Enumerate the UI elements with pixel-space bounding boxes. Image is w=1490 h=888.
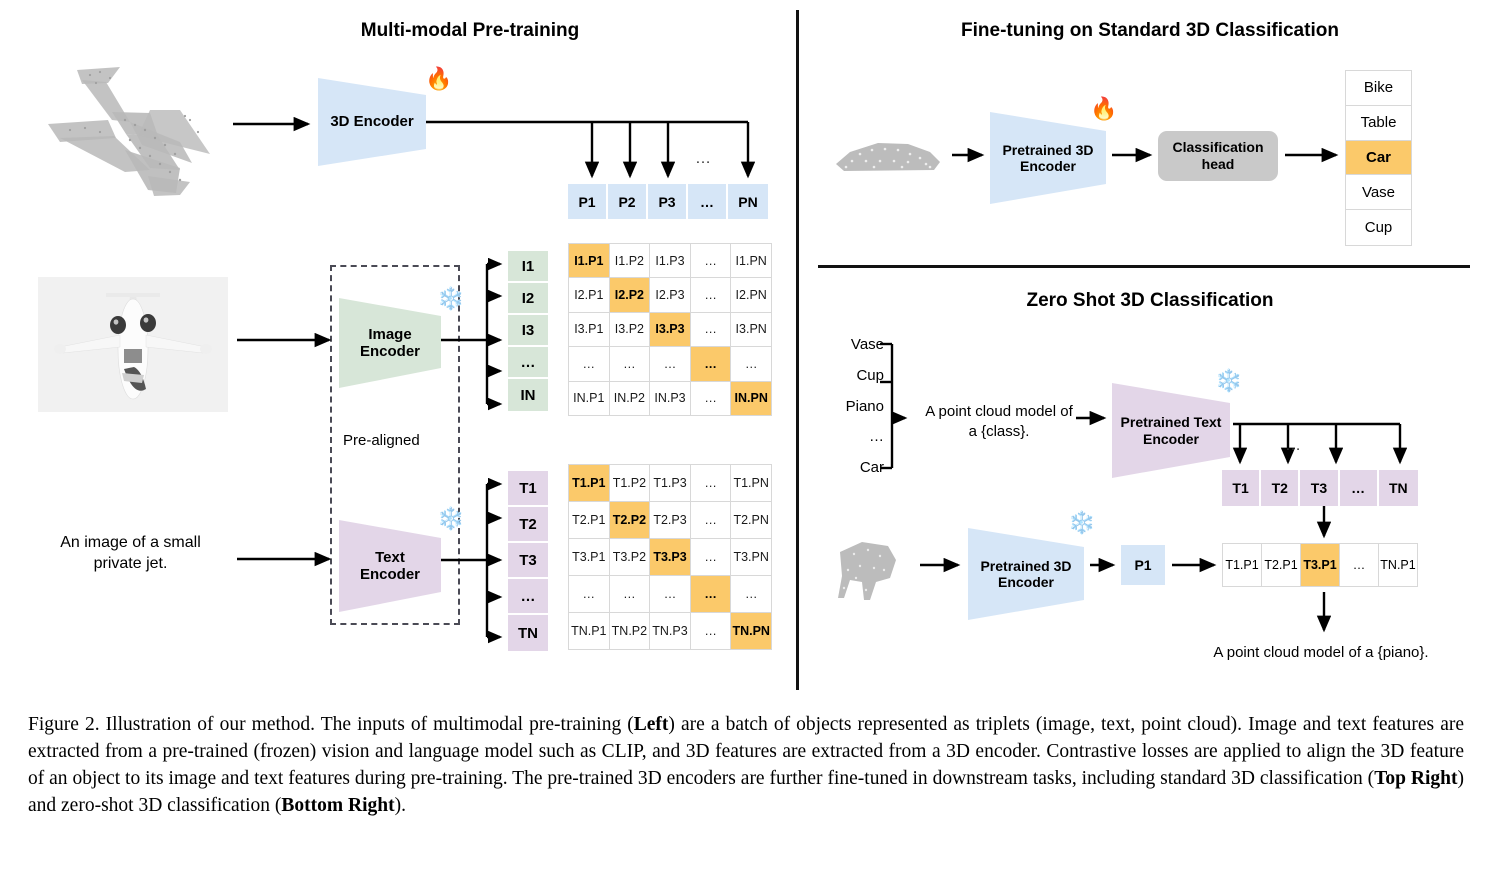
zeroshot-t-token-4: … [1340,470,1379,506]
image-matrix-cell-0-1: I1.P2 [610,244,650,277]
image-encoder-label: Image Encoder [360,326,420,361]
pretrained-text-encoder-label: Pretrained Text Encoder [1121,414,1222,446]
airplane-point-cloud [30,50,245,210]
text-matrix-cell-1-1: T2.P2 [610,502,650,538]
i-token-4: … [508,347,548,379]
t-token-1: T1 [508,471,548,507]
p-token-1: P1 [568,184,608,219]
class-item-car[interactable]: Car [1346,141,1411,176]
zeroshot-t-token-5: TN [1379,470,1418,506]
image-matrix-cell-3-2: … [650,347,690,380]
text-encoder[interactable]: Text Encoder [339,520,441,612]
score-cell-5: TN.P1 [1379,544,1417,586]
image-matrix-cell-1-2: I2.P3 [650,278,690,311]
pretrained-text-encoder[interactable]: Pretrained Text Encoder [1112,383,1230,478]
zeroshot-class-5: Car [860,459,884,476]
text-input-line-1: An image of a small [18,533,243,554]
figure-canvas: Multi-modal Pre-training Fine-tuning on … [0,0,1490,700]
pretrained-3d-encoder-label: Pretrained 3D Encoder [1002,142,1093,174]
t-token-3: T3 [508,543,548,579]
image-matrix-cell-0-0: I1.P1 [569,244,609,277]
text-matrix-cell-1-3: … [691,502,731,538]
prompt-template: A point cloud model of a {class}. [908,402,1090,441]
text-matrix-cell-1-2: T2.P3 [650,502,690,538]
text-matrix-cell-3-0: … [569,576,609,612]
zeroshot-t-token-2: T2 [1261,470,1300,506]
class-item-vase[interactable]: Vase [1346,175,1411,210]
i-token-column: I1I2I3…IN [508,251,548,411]
piano-point-cloud [830,530,910,610]
panel-title-left: Multi-modal Pre-training [260,20,680,42]
image-matrix-cell-1-4: I2.PN [731,278,771,311]
text-input: An image of a small private jet. [18,533,243,575]
text-matrix-cell-3-2: … [650,576,690,612]
zeroshot-class-2: Cup [856,367,884,384]
text-matrix-cell-0-3: … [691,465,731,501]
image-matrix-cell-4-2: IN.P3 [650,382,690,415]
text-input-line-2: private jet. [18,554,243,575]
image-matrix-cell-0-3: … [691,244,731,277]
text-matrix-cell-0-0: T1.P1 [569,465,609,501]
prompt-line-2: a {class}. [908,422,1090,442]
text-matrix-cell-4-2: TN.P3 [650,613,690,649]
prompt-line-1: A point cloud model of [908,402,1090,422]
image-matrix-cell-3-3: … [691,347,731,380]
t-token-5: TN [508,615,548,651]
panel-title-top-right: Fine-tuning on Standard 3D Classificatio… [890,20,1410,42]
snowflake-icon: ❄️ [437,508,464,530]
panel-title-bottom-right: Zero Shot 3D Classification [960,290,1340,312]
image-matrix-cell-3-1: … [610,347,650,380]
image-matrix-cell-2-2: I3.P3 [650,313,690,346]
image-matrix-cell-2-0: I3.P1 [569,313,609,346]
classification-head[interactable]: Classification head [1158,131,1278,181]
i-token-5: IN [508,379,548,411]
text-matrix-cell-0-2: T1.P3 [650,465,690,501]
text-matrix-cell-2-0: T3.P1 [569,539,609,575]
i-token-1: I1 [508,251,548,283]
image-matrix-cell-1-3: … [691,278,731,311]
pre-aligned-label: Pre-aligned [343,431,420,451]
class-name-list: VaseCupPiano…Car [826,336,884,476]
figure-caption: Figure 2. Illustration of our method. Th… [28,712,1464,820]
image-matrix-cell-2-3: … [691,313,731,346]
t-token-4: … [508,579,548,615]
vertical-divider [796,10,799,690]
image-matrix-cell-3-4: … [731,347,771,380]
score-cell-4: … [1340,544,1378,586]
i-token-3: I3 [508,315,548,347]
text-matrix-cell-2-2: T3.P3 [650,539,690,575]
zeroshot-class-4: … [869,428,884,445]
t-token-2: T2 [508,507,548,543]
fire-icon: 🔥 [425,68,452,90]
p1-token-label: P1 [1134,557,1151,573]
text-matrix-cell-3-1: … [610,576,650,612]
text-matrix-cell-1-4: T2.PN [731,502,771,538]
image-matrix-cell-1-1: I2.P2 [610,278,650,311]
image-matrix-cell-0-4: I1.PN [731,244,771,277]
image-matrix-cell-2-4: I3.PN [731,313,771,346]
zeroshot-result: A point cloud model of a {piano}. [1190,643,1452,663]
encoder-3d[interactable]: 3D Encoder [318,78,426,166]
text-matrix-cell-2-3: … [691,539,731,575]
image-matrix-cell-4-4: IN.PN [731,382,771,415]
image-matrix-cell-3-0: … [569,347,609,380]
text-matrix-cell-2-4: T3.PN [731,539,771,575]
svg-text:…: … [695,150,711,167]
image-matrix-cell-0-2: I1.P3 [650,244,690,277]
i-token-2: I2 [508,283,548,315]
zeroshot-class-1: Vase [851,336,884,353]
encoder-3d-label: 3D Encoder [330,113,413,130]
p-token-5: PN [728,184,768,219]
class-item-table[interactable]: Table [1346,106,1411,141]
text-matrix-cell-3-4: … [731,576,771,612]
p-token-2: P2 [608,184,648,219]
similarity-score-row: T1.P1T2.P1T3.P1…TN.P1 [1222,543,1418,587]
text-matrix-cell-4-1: TN.P2 [610,613,650,649]
text-matrix-cell-0-4: T1.PN [731,465,771,501]
text-matrix-cell-3-3: … [691,576,731,612]
text-matrix-cell-4-0: TN.P1 [569,613,609,649]
pretrained-3d-encoder-zeroshot-label: Pretrained 3D Encoder [980,558,1071,590]
zeroshot-t-token-3: T3 [1300,470,1339,506]
image-encoder[interactable]: Image Encoder [339,298,441,388]
t-token-column: T1T2T3…TN [508,471,548,651]
image-matrix-cell-1-0: I2.P1 [569,278,609,311]
car-point-cloud [830,130,945,182]
p-token-3: P3 [648,184,688,219]
text-encoder-label: Text Encoder [360,549,420,584]
horizontal-divider [818,265,1470,268]
class-item-bike[interactable]: Bike [1346,71,1411,106]
pretrained-3d-encoder-zeroshot[interactable]: Pretrained 3D Encoder [968,528,1084,620]
p-token-row: P1P2P3…PN [568,184,768,219]
zeroshot-class-3: Piano [846,398,884,415]
class-list: BikeTableCarVaseCup [1345,70,1412,246]
score-cell-2: T2.P1 [1262,544,1300,586]
pretrained-3d-encoder-finetune[interactable]: Pretrained 3D Encoder [990,112,1106,204]
text-matrix-cell-4-4: TN.PN [731,613,771,649]
p1-token: P1 [1121,545,1165,585]
image-similarity-matrix: I1.P1I1.P2I1.P3…I1.PNI2.P1I2.P2I2.P3…I2.… [568,243,772,416]
text-matrix-cell-4-3: … [691,613,731,649]
image-matrix-cell-4-3: … [691,382,731,415]
class-item-cup[interactable]: Cup [1346,210,1411,245]
airplane-rendered-image [38,277,228,412]
p-token-4: … [688,184,728,219]
text-matrix-cell-2-1: T3.P2 [610,539,650,575]
text-similarity-matrix: T1.P1T1.P2T1.P3…T1.PNT2.P1T2.P2T2.P3…T2.… [568,464,772,650]
text-matrix-cell-1-0: T2.P1 [569,502,609,538]
image-matrix-cell-2-1: I3.P2 [610,313,650,346]
score-cell-1: T1.P1 [1223,544,1261,586]
score-cell-3: T3.P1 [1301,544,1339,586]
image-matrix-cell-4-1: IN.P2 [610,382,650,415]
svg-text:…: … [1285,437,1301,454]
text-matrix-cell-0-1: T1.P2 [610,465,650,501]
classification-head-label: Classification head [1172,139,1263,173]
snowflake-icon: ❄️ [437,288,464,310]
image-matrix-cell-4-0: IN.P1 [569,382,609,415]
zeroshot-t-token-row: T1T2T3…TN [1222,470,1418,506]
